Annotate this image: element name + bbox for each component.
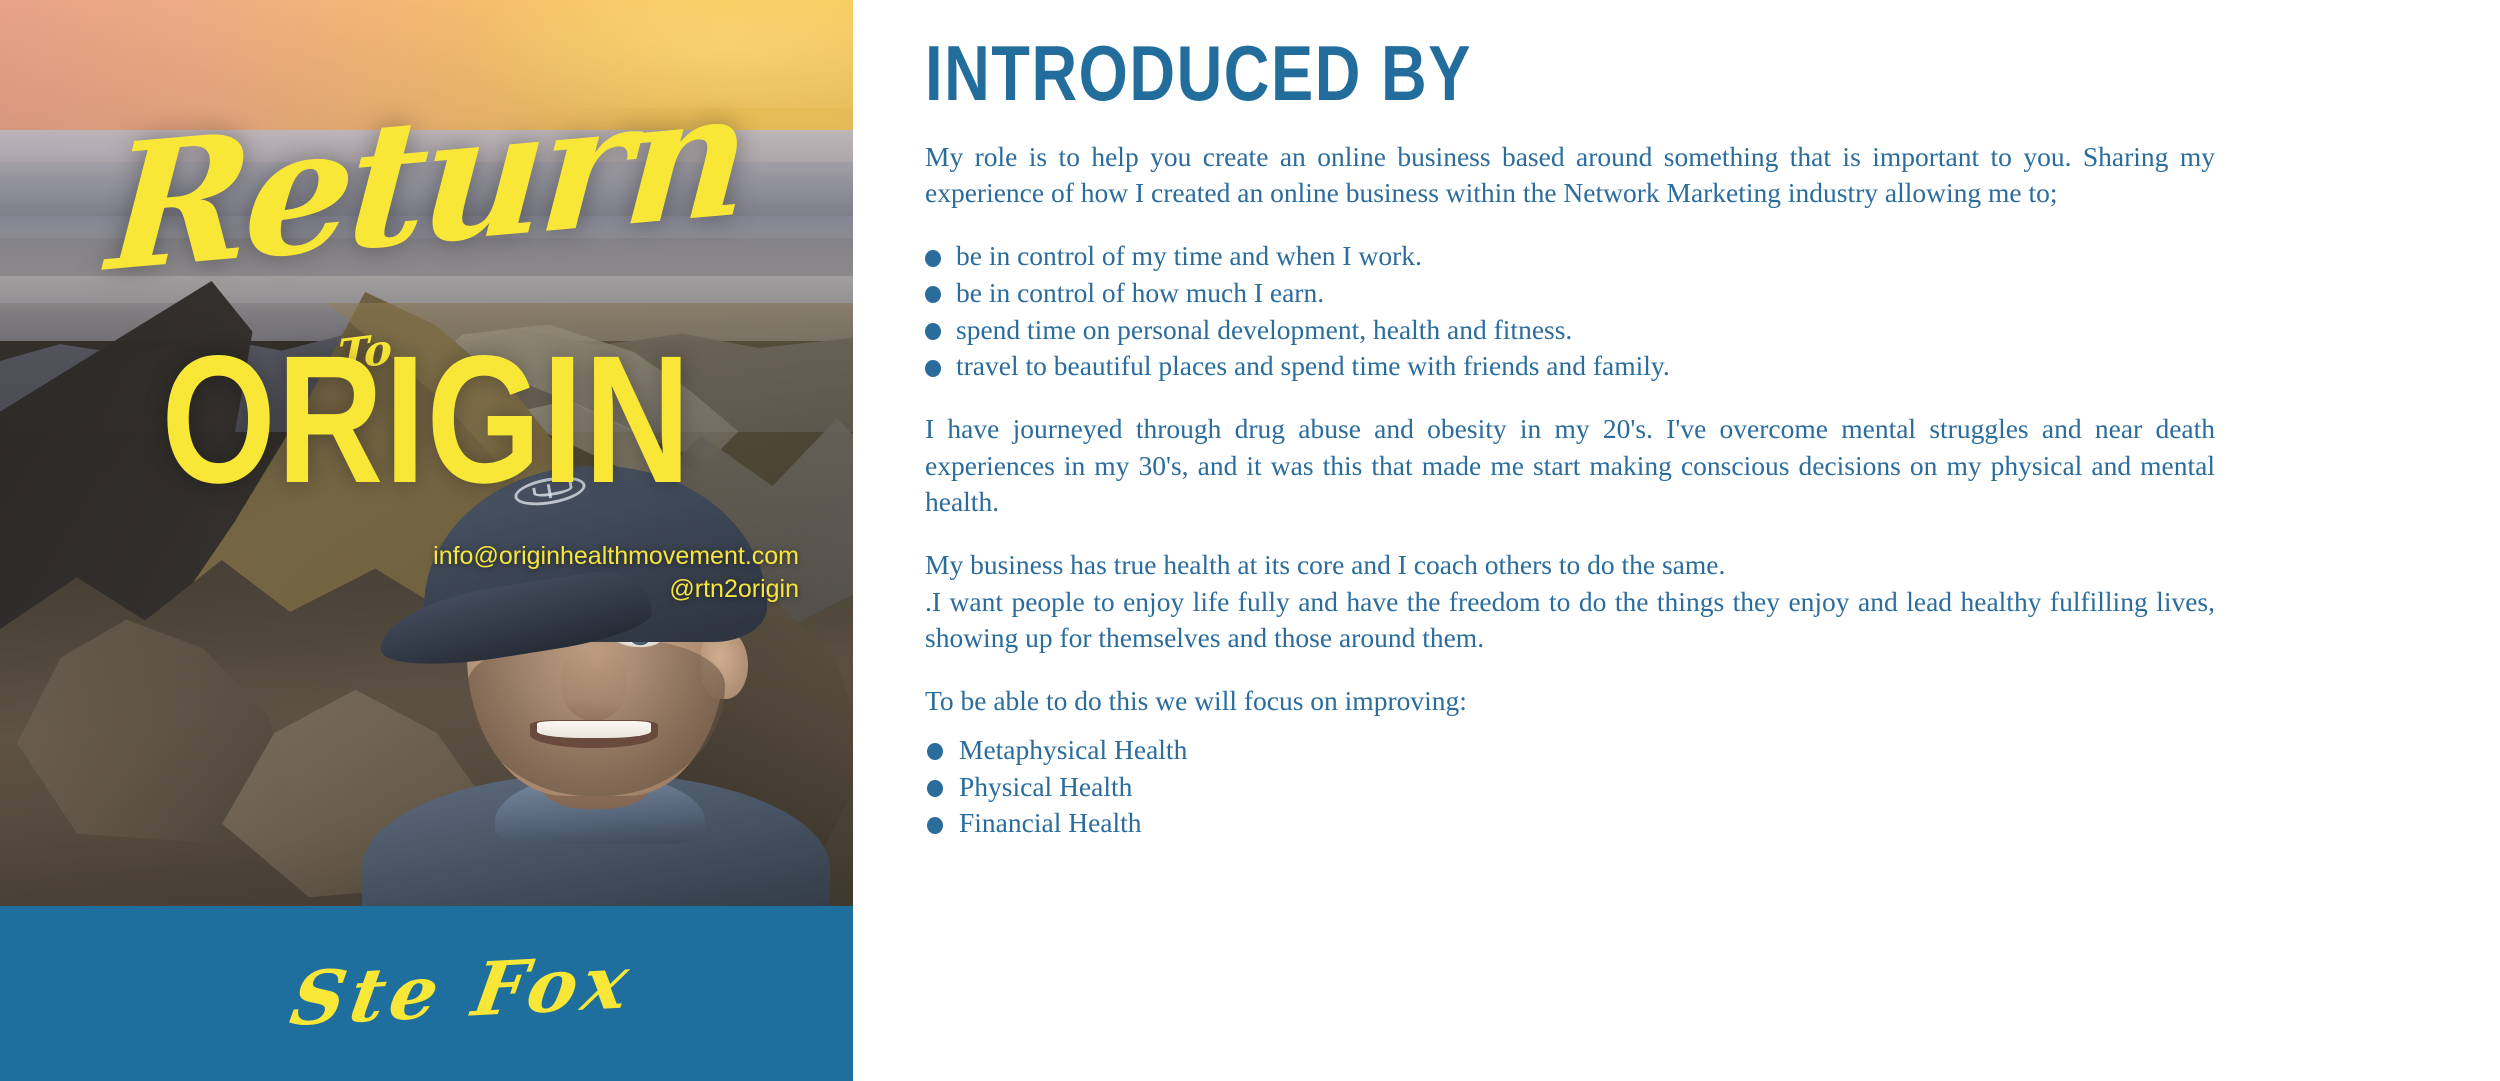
mission-line: My business has true health at its core … bbox=[925, 547, 2215, 584]
cover-title-main: ORIGIN bbox=[0, 330, 853, 512]
bullet-dot-icon bbox=[927, 780, 943, 797]
bullet-dot-icon bbox=[925, 323, 941, 340]
page-root: Return To ORIGIN info@originhealthmoveme… bbox=[0, 0, 2500, 1081]
story-paragraph: I have journeyed through drug abuse and … bbox=[925, 411, 2215, 521]
cover-title-script: Return bbox=[0, 57, 853, 305]
list-item: be in control of my time and when I work… bbox=[925, 238, 2215, 275]
list-item: travel to beautiful places and spend tim… bbox=[925, 348, 2215, 385]
bullet-dot-icon bbox=[925, 250, 941, 267]
spacer bbox=[925, 521, 2215, 547]
bullet-dot-icon bbox=[925, 286, 941, 303]
intro-paragraph: My role is to help you create an online … bbox=[925, 139, 2215, 212]
spacer bbox=[925, 385, 2215, 411]
cover-footer-band: Ste Fox bbox=[0, 906, 853, 1081]
focus-areas-list: Metaphysical Health Physical Health Fina… bbox=[925, 732, 2215, 842]
presenter-signature: Ste Fox bbox=[214, 940, 639, 1047]
cover-image-panel: Return To ORIGIN info@originhealthmoveme… bbox=[0, 0, 853, 1081]
cover-contact-block: info@originhealthmovement.com @rtn2origi… bbox=[0, 540, 853, 606]
spacer bbox=[925, 212, 2215, 238]
list-item-label: travel to beautiful places and spend tim… bbox=[956, 350, 1670, 381]
list-item-label: Metaphysical Health bbox=[959, 734, 1187, 765]
bullet-dot-icon bbox=[925, 360, 941, 377]
list-item-label: Financial Health bbox=[959, 807, 1142, 838]
bullet-dot-icon bbox=[927, 817, 943, 834]
contact-email[interactable]: info@originhealthmovement.com bbox=[0, 540, 799, 573]
list-item: Physical Health bbox=[925, 769, 2215, 806]
mission-paragraph: .I want people to enjoy life fully and h… bbox=[925, 584, 2215, 657]
bullet-dot-icon bbox=[927, 743, 943, 760]
list-item-label: be in control of how much I earn. bbox=[956, 277, 1324, 308]
spacer bbox=[925, 657, 2215, 683]
cover-typography: Return To ORIGIN info@originhealthmoveme… bbox=[0, 0, 853, 906]
spacer bbox=[925, 720, 2215, 732]
list-item-label: be in control of my time and when I work… bbox=[956, 240, 1422, 271]
list-item: Metaphysical Health bbox=[925, 732, 2215, 769]
list-item: be in control of how much I earn. bbox=[925, 275, 2215, 312]
list-item: spend time on personal development, heal… bbox=[925, 312, 2215, 349]
benefits-list: be in control of my time and when I work… bbox=[925, 238, 2215, 385]
page-title: INTRODUCED BY bbox=[925, 33, 2241, 116]
focus-intro-line: To be able to do this we will focus on i… bbox=[925, 683, 2215, 720]
contact-handle[interactable]: @rtn2origin bbox=[0, 573, 799, 606]
list-item-label: spend time on personal development, heal… bbox=[956, 314, 1572, 345]
list-item: Financial Health bbox=[925, 805, 2215, 842]
content-pane: INTRODUCED BY My role is to help you cre… bbox=[853, 0, 2500, 1081]
list-item-label: Physical Health bbox=[959, 771, 1132, 802]
